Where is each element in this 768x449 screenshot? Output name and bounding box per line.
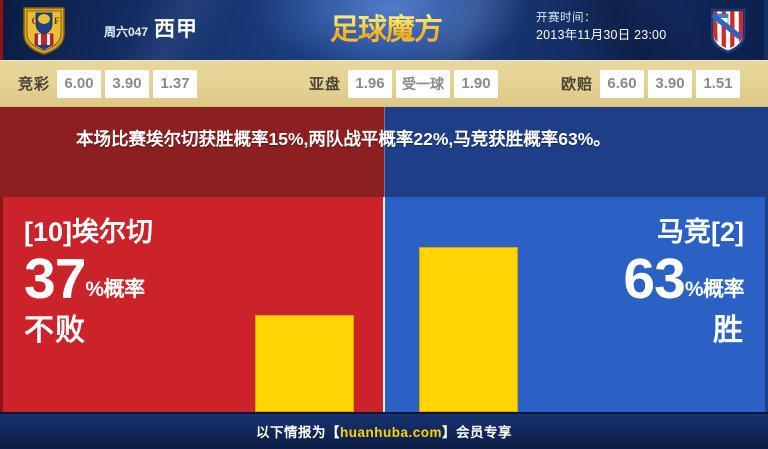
odds-cell-away[interactable]: 1.51 bbox=[696, 70, 740, 98]
kickoff-label: 开赛时间： bbox=[536, 10, 666, 27]
home-probability-suffix: %概率 bbox=[85, 277, 144, 307]
probability-summary-banner: 本场比赛埃尔切获胜概率15%,两队战平概率22%,马竞获胜概率63%。 bbox=[0, 107, 768, 197]
odds-cell-home[interactable]: 6.00 bbox=[57, 70, 101, 98]
match-preview-card: C F bbox=[0, 0, 768, 449]
site-logo-text: 足球魔方 bbox=[330, 7, 454, 53]
odds-cell-away[interactable]: 1.90 bbox=[454, 70, 498, 98]
footer-bar: 以下情报为【huanhuba.com】会员专享 bbox=[0, 412, 768, 448]
odds-group-jingcai: 竞彩 6.00 3.90 1.37 bbox=[18, 70, 197, 98]
footer-notice: 以下情报为【huanhuba.com】会员专享 bbox=[256, 421, 512, 441]
kickoff-value: 2013年11月30日 23:00 bbox=[536, 27, 666, 44]
header-left-edge-stripe bbox=[0, 0, 3, 60]
home-team-name: [10]埃尔切 bbox=[24, 215, 153, 249]
league-round-block: 周六047 西甲 bbox=[104, 13, 198, 43]
away-probability-line: 63 %概率 bbox=[623, 251, 744, 307]
elche-cf-crest-icon: C F bbox=[16, 4, 72, 56]
away-team-panel: 马竞[2] 63 %概率 胜 bbox=[384, 197, 768, 412]
home-result-label: 不败 bbox=[24, 311, 153, 351]
left-edge-stripe bbox=[0, 197, 3, 412]
home-probability-line: 37 %概率 bbox=[24, 251, 153, 307]
odds-cell-handicap[interactable]: 受一球 bbox=[396, 70, 450, 98]
odds-group-asian-handicap: 亚盘 1.96 受一球 1.90 bbox=[309, 70, 498, 98]
round-number: 周六047 bbox=[104, 23, 148, 40]
atletico-madrid-crest-icon bbox=[700, 4, 756, 56]
footer-suffix: 】会员专享 bbox=[442, 425, 512, 440]
header-bar: C F bbox=[0, 0, 768, 60]
away-probability-value: 63 bbox=[623, 251, 684, 307]
away-team-name: 马竞[2] bbox=[623, 215, 744, 249]
odds-group-european: 欧赔 6.60 3.90 1.51 bbox=[561, 70, 740, 98]
away-probability-bar bbox=[419, 247, 518, 412]
odds-group-label: 亚盘 bbox=[309, 73, 341, 94]
odds-group-label: 欧赔 bbox=[561, 73, 593, 94]
odds-bar: 竞彩 6.00 3.90 1.37 亚盘 1.96 受一球 1.90 欧赔 6.… bbox=[0, 60, 768, 107]
home-probability-value: 37 bbox=[24, 251, 85, 307]
home-probability-bar bbox=[255, 315, 354, 412]
away-probability-suffix: %概率 bbox=[685, 277, 744, 307]
odds-cell-draw[interactable]: 3.90 bbox=[648, 70, 692, 98]
footer-site-link[interactable]: huanhuba.com bbox=[340, 425, 442, 440]
odds-group-label: 竞彩 bbox=[18, 73, 50, 94]
home-team-info: [10]埃尔切 37 %概率 不败 bbox=[24, 215, 153, 351]
odds-cell-draw[interactable]: 3.90 bbox=[105, 70, 149, 98]
site-logo[interactable]: 足球魔方 bbox=[330, 7, 454, 53]
away-team-info: 马竞[2] 63 %概率 胜 bbox=[623, 215, 744, 351]
header-right-edge-stripe bbox=[764, 0, 768, 60]
svg-text:F: F bbox=[54, 16, 60, 26]
panel-center-divider bbox=[383, 197, 385, 412]
footer-prefix: 以下情报为【 bbox=[256, 425, 340, 440]
odds-cell-home[interactable]: 1.96 bbox=[348, 70, 392, 98]
league-name: 西甲 bbox=[154, 13, 198, 43]
probability-chart: [10]埃尔切 37 %概率 不败 马竞[2] 63 %概率 胜 bbox=[0, 197, 768, 412]
svg-text:C: C bbox=[32, 16, 39, 26]
odds-cell-away[interactable]: 1.37 bbox=[153, 70, 197, 98]
odds-cell-home[interactable]: 6.60 bbox=[600, 70, 644, 98]
kickoff-time-block: 开赛时间： 2013年11月30日 23:00 bbox=[536, 10, 666, 44]
home-team-panel: [10]埃尔切 37 %概率 不败 bbox=[0, 197, 384, 412]
probability-summary-text: 本场比赛埃尔切获胜概率15%,两队战平概率22%,马竞获胜概率63%。 bbox=[76, 124, 716, 155]
away-result-label: 胜 bbox=[623, 311, 744, 351]
